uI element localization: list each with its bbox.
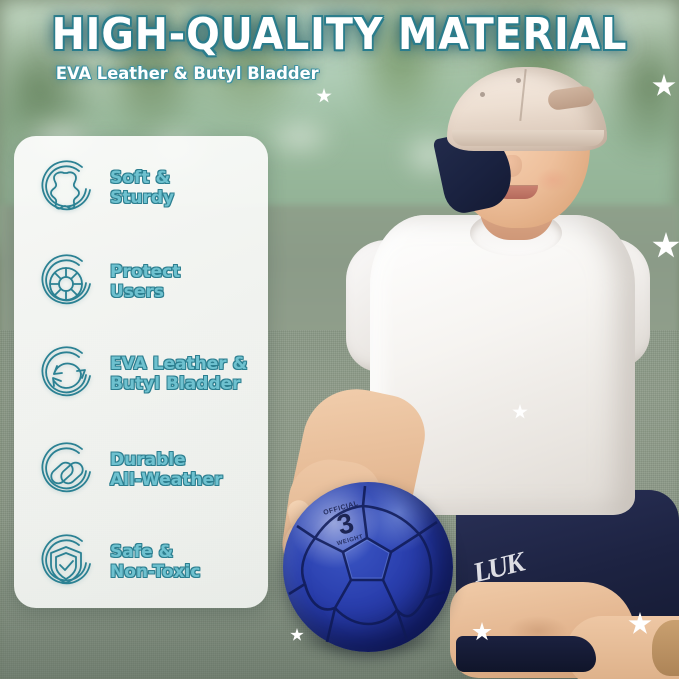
feature-label: Durable All-Weather — [110, 451, 222, 491]
feature-item-durable: Durable All-Weather — [32, 432, 256, 510]
shield-check-icon — [32, 528, 102, 598]
feature-label: Protect Users — [110, 263, 180, 303]
header: HIGH-QUALITY MATERIAL EVA Leather & Buty… — [0, 0, 679, 84]
feature-label: EVA Leather & Butyl Bladder — [110, 355, 247, 395]
feature-label: Safe & Non-Toxic — [110, 543, 200, 583]
feature-label: Soft & Sturdy — [110, 169, 174, 209]
chain-link-icon — [32, 436, 102, 506]
leather-hide-icon — [32, 154, 102, 224]
recycle-arrows-icon — [32, 340, 102, 410]
feature-panel: Soft & Sturdy Protect Users — [14, 136, 268, 608]
ball-body: OFFICIAL 3 WEIGHT — [283, 482, 453, 652]
page-subtitle: EVA Leather & Butyl Bladder — [14, 64, 666, 84]
feature-item-soft-sturdy: Soft & Sturdy — [32, 150, 256, 228]
soccer-ball: OFFICIAL 3 WEIGHT — [283, 482, 453, 652]
shorts-hem — [456, 636, 596, 672]
page-title: HIGH-QUALITY MATERIAL — [34, 0, 645, 58]
protection-wheel-icon — [32, 248, 102, 318]
cap-vent — [480, 92, 485, 97]
product-marketing-image: LUK — [0, 0, 679, 679]
cap-band — [452, 130, 604, 146]
feature-item-protect-users: Protect Users — [32, 244, 256, 322]
cheek — [536, 168, 570, 192]
feature-item-safe-nontoxic: Safe & Non-Toxic — [32, 524, 256, 602]
feature-item-eva-leather: EVA Leather & Butyl Bladder — [32, 336, 256, 414]
